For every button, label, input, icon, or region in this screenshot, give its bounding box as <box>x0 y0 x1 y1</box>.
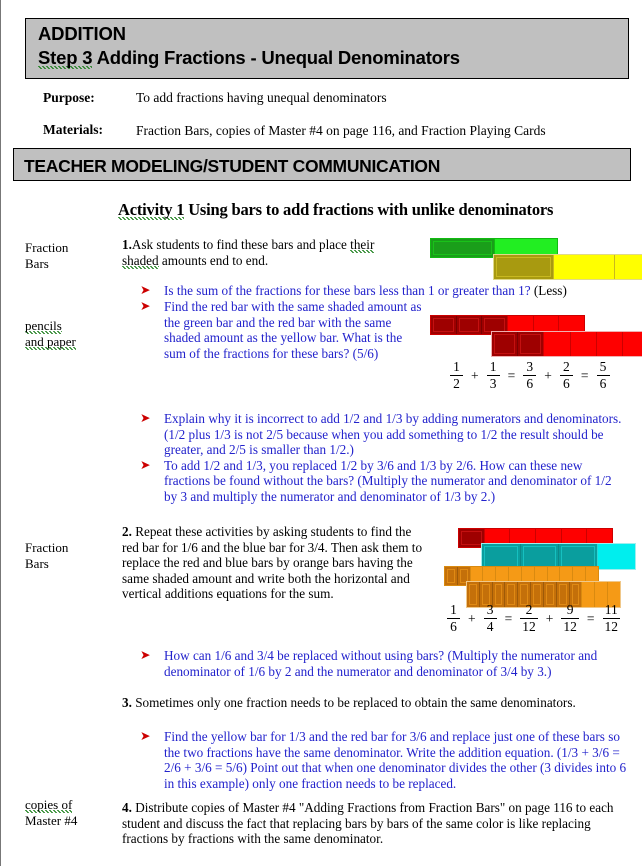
margin-note-line: pencils <box>25 318 62 334</box>
shade-marker <box>494 334 515 354</box>
bullet-item: ➤To add 1/2 and 1/3, you replaced 1/2 by… <box>138 458 625 505</box>
bar-cell-empty <box>543 332 569 356</box>
fraction-numerator: 1 <box>451 360 462 374</box>
fraction-denominator: 12 <box>520 620 538 634</box>
bullet-question: How can 1/6 and 3/4 be replaced without … <box>164 648 597 679</box>
shade-marker <box>484 546 518 567</box>
fraction: 912 <box>561 603 579 634</box>
equation-operator: = <box>581 368 589 384</box>
margin-note-pencils-and-paper: pencils and paper <box>25 318 120 349</box>
fraction: 13 <box>487 360 500 391</box>
fraction: 12 <box>450 360 463 391</box>
step-3-text: Sometimes only one fraction needs to be … <box>135 695 576 710</box>
bar-cell-empty <box>596 332 622 356</box>
shade-marker <box>520 334 541 354</box>
step-1-text-shaded: shaded <box>122 253 159 269</box>
bullet-question: To add 1/2 and 1/3, you replaced 1/2 by … <box>164 458 612 504</box>
fraction-numerator: 3 <box>524 360 535 374</box>
fraction-numerator: 1 <box>448 603 459 617</box>
fraction-denominator: 12 <box>603 620 621 634</box>
fraction: 1112 <box>603 603 621 634</box>
fraction-numerator: 9 <box>565 603 576 617</box>
arrow-bullet-icon: ➤ <box>140 647 150 663</box>
shade-marker <box>459 318 480 332</box>
purpose-label: Purpose: <box>43 90 95 106</box>
equation-operator: = <box>587 611 595 627</box>
equation-operator: + <box>471 368 479 384</box>
bullet-item: ➤Find the yellow bar for 1/3 and the red… <box>138 729 633 791</box>
purpose-value: To add fractions having unequal denomina… <box>136 90 626 106</box>
shade-marker <box>533 584 541 605</box>
bullet-list-3: ➤Explain why it is incorrect to add 1/2 … <box>138 411 625 505</box>
step-label: Step 3 <box>38 47 92 69</box>
title-line-1: ADDITION <box>38 22 628 45</box>
margin-note-copies-of-master: copies of Master #4 <box>25 797 120 828</box>
margin-note-line: Bars <box>25 256 120 272</box>
fraction-denominator: 6 <box>524 377 535 391</box>
shade-marker <box>433 318 454 332</box>
bar-cell-shaded <box>459 529 484 547</box>
shade-marker <box>469 584 477 605</box>
bullet-question: Find the red bar with the same shaded am… <box>164 299 421 361</box>
shade-marker <box>523 546 557 567</box>
document-page: ADDITION Step 3 Adding Fractions - Unequ… <box>0 0 642 866</box>
arrow-bullet-icon: ➤ <box>140 728 150 744</box>
bar-cell-empty <box>570 332 596 356</box>
margin-note-fraction-bars-2: Fraction Bars <box>25 540 120 571</box>
bullet-item: ➤Explain why it is incorrect to add 1/2 … <box>138 411 625 458</box>
fraction-denominator: 2 <box>451 377 462 391</box>
arrow-bullet-icon: ➤ <box>140 282 150 298</box>
fraction-denominator: 6 <box>561 377 572 391</box>
fraction-denominator: 6 <box>448 620 459 634</box>
fraction-numerator: 2 <box>524 603 535 617</box>
bar-cell-empty <box>622 332 642 356</box>
step-1-text-their: their <box>350 237 374 253</box>
equation-operator: = <box>508 368 516 384</box>
bullet-list-5: ➤Find the yellow bar for 1/3 and the red… <box>138 729 633 791</box>
bullet-answer: (Less) <box>534 283 567 298</box>
shade-marker <box>447 569 455 583</box>
step-3-number: 3. <box>122 695 132 710</box>
bar-cell-shaded <box>431 316 456 334</box>
step-4-text: Distribute copies of Master #4 "Adding F… <box>122 800 614 846</box>
step-2-number: 2. <box>122 524 132 539</box>
shade-marker <box>559 584 567 605</box>
step-1-number: 1. <box>122 237 132 252</box>
bar-cell-empty <box>614 255 642 279</box>
materials-value: Fraction Bars, copies of Master #4 on pa… <box>136 123 631 139</box>
equation-operator: + <box>468 611 476 627</box>
bar-cell-empty <box>553 255 613 279</box>
section-banner-label: TEACHER MODELING/STUDENT COMMUNICATION <box>24 156 440 176</box>
margin-note-line: Fraction <box>25 540 120 556</box>
bullet-list-1: ➤Is the sum of the fractions for these b… <box>138 283 623 299</box>
step-4-number: 4. <box>122 800 132 815</box>
shade-marker <box>561 546 595 567</box>
fraction-numerator: 5 <box>598 360 609 374</box>
step-2-paragraph: 2. Repeat these activities by asking stu… <box>122 524 426 602</box>
bullet-question: Find the yellow bar for 1/3 and the red … <box>164 729 626 791</box>
title-banner: ADDITION Step 3 Adding Fractions - Unequ… <box>25 18 629 79</box>
step-4-paragraph: 4. Distribute copies of Master #4 "Addin… <box>122 800 632 847</box>
margin-note-line: copies of <box>25 797 72 813</box>
fraction-numerator: 11 <box>603 603 620 617</box>
shade-marker <box>507 584 515 605</box>
fraction: 26 <box>560 360 573 391</box>
fraction-denominator: 12 <box>561 620 579 634</box>
activity-number: Activity 1 <box>118 200 184 220</box>
activity-heading: Activity 1 Using bars to add fractions w… <box>118 200 628 220</box>
bullet-list-4: ➤How can 1/6 and 3/4 be replaced without… <box>138 648 628 679</box>
fraction: 56 <box>597 360 610 391</box>
fraction: 36 <box>523 360 536 391</box>
bar-cell-shaded <box>431 239 494 257</box>
fraction: 16 <box>447 603 460 634</box>
title-line-2: Step 3 Adding Fractions - Unequal Denomi… <box>38 45 628 70</box>
shade-marker <box>433 241 492 255</box>
fraction: 34 <box>484 603 497 634</box>
fraction-numerator: 2 <box>561 360 572 374</box>
bullet-item: ➤How can 1/6 and 3/4 be replaced without… <box>138 648 628 679</box>
bar-cell-shaded <box>517 332 543 356</box>
margin-note-line: and paper <box>25 334 76 350</box>
fraction-numerator: 1 <box>488 360 499 374</box>
equation-operator: + <box>544 368 552 384</box>
fraction-denominator: 4 <box>485 620 496 634</box>
bar-figure-red-red <box>428 315 633 359</box>
bullet-question: Explain why it is incorrect to add 1/2 a… <box>164 411 621 457</box>
activity-title: Using bars to add fractions with unlike … <box>188 200 553 219</box>
step-title: Adding Fractions - Unequal Denominators <box>97 47 460 68</box>
shade-marker <box>495 584 503 605</box>
shade-marker <box>461 531 482 545</box>
arrow-bullet-icon: ➤ <box>140 410 150 426</box>
yellow-third-bar <box>493 254 642 280</box>
margin-note-line: Master #4 <box>25 813 120 829</box>
step-3-paragraph: 3. Sometimes only one fraction needs to … <box>122 695 632 711</box>
margin-note-line: Bars <box>25 556 120 572</box>
margin-note-line: Fraction <box>25 240 120 256</box>
section-banner: TEACHER MODELING/STUDENT COMMUNICATION <box>13 148 631 181</box>
step-1-text-b: amounts end to end. <box>159 253 269 268</box>
bar-figure-green-yellow <box>428 238 633 282</box>
shade-marker <box>496 257 551 277</box>
fraction: 212 <box>520 603 538 634</box>
bar-cell-shaded <box>494 255 553 279</box>
step-1-paragraph: 1.Ask students to find these bars and pl… <box>122 237 422 268</box>
equation-operator: + <box>546 611 554 627</box>
bullet-item: ➤Find the red bar with the same shaded a… <box>138 299 426 361</box>
equation-1: 12+13=36+26=56 <box>447 360 613 391</box>
arrow-bullet-icon: ➤ <box>140 298 150 314</box>
bullet-list-2: ➤Find the red bar with the same shaded a… <box>138 299 426 361</box>
shade-marker <box>484 318 505 332</box>
arrow-bullet-icon: ➤ <box>140 457 150 473</box>
bullet-item: ➤Is the sum of the fractions for these b… <box>138 283 623 299</box>
fraction-denominator: 3 <box>488 377 499 391</box>
margin-note-fraction-bars-1: Fraction Bars <box>25 240 120 271</box>
fraction-numerator: 3 <box>485 603 496 617</box>
fraction-denominator: 6 <box>598 377 609 391</box>
equation-operator: = <box>505 611 513 627</box>
red-sixth-bar-two-shaded <box>491 331 642 357</box>
bullet-question: Is the sum of the fractions for these ba… <box>164 283 534 298</box>
bar-cell-shaded <box>492 332 517 356</box>
step-1-text-a: Ask students to find these bars and plac… <box>132 237 350 252</box>
equation-2: 16+34=212+912=1112 <box>444 603 623 634</box>
shade-marker <box>546 584 554 605</box>
bar-cell-shaded <box>445 567 457 585</box>
step-2-text: Repeat these activities by asking studen… <box>122 524 422 601</box>
materials-label: Materials: <box>43 122 103 138</box>
bar-cell-shaded <box>456 316 482 334</box>
